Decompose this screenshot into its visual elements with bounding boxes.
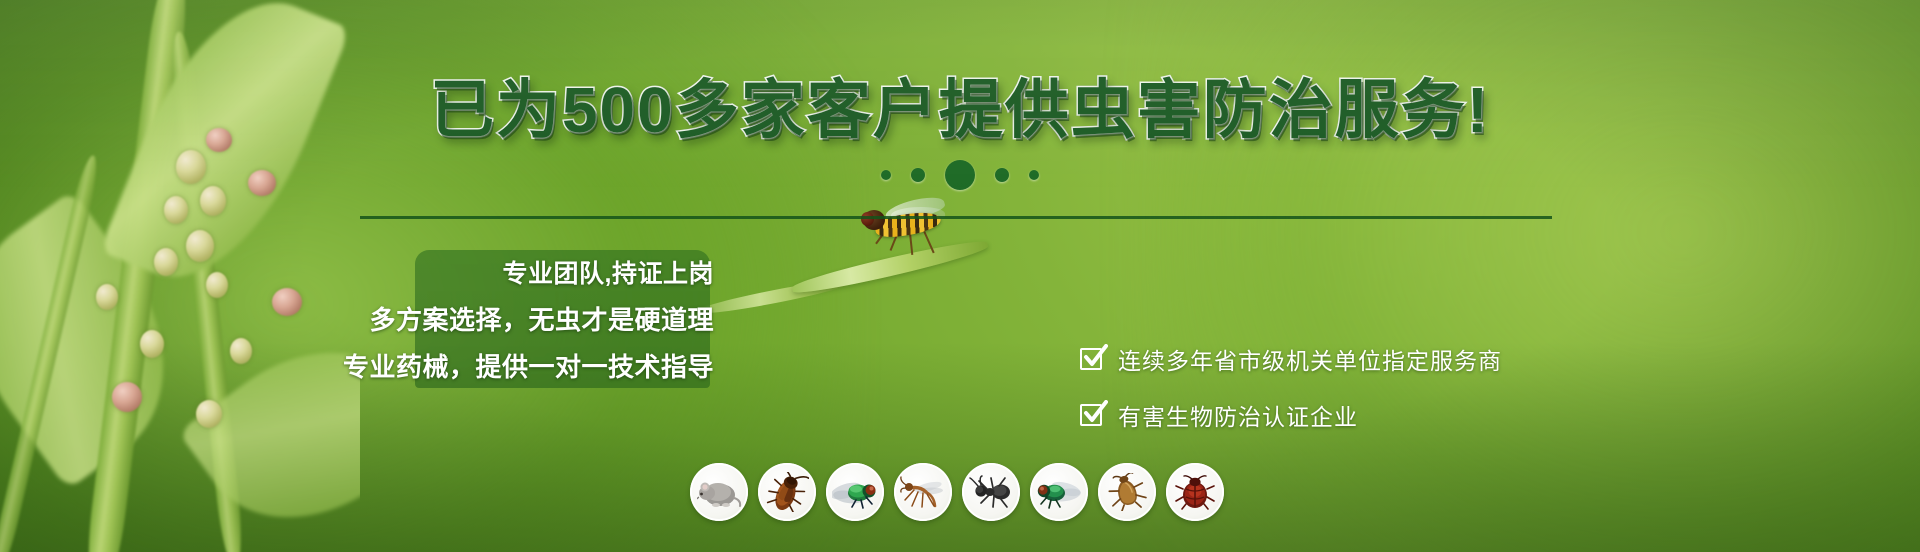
- checklist-item: 连续多年省市级机关单位指定服务商: [1080, 342, 1700, 376]
- credentials-checklist: 连续多年省市级机关单位指定服务商 有害生物防治认证企业: [1080, 342, 1700, 432]
- pest-badge-mosquito[interactable]: [894, 463, 952, 521]
- plant-bud-icon: [112, 382, 142, 412]
- greenfly-icon: [832, 475, 878, 509]
- divider-dot-icon: [1029, 170, 1039, 180]
- pest-badge-cockroach[interactable]: [758, 463, 816, 521]
- plant-bud-icon: [96, 284, 118, 310]
- plant-bud-icon: [200, 186, 226, 216]
- pest-badge-greenfly[interactable]: [826, 463, 884, 521]
- mosquito-icon: [900, 474, 946, 510]
- checklist-item-label: 有害生物防治认证企业: [1118, 398, 1358, 432]
- plant-bud-icon: [196, 400, 222, 428]
- selling-point-line-2: 多方案选择，无虫才是硬道理: [369, 300, 714, 337]
- plant-bud-icon: [140, 330, 164, 358]
- hoverfly-icon: [845, 198, 965, 250]
- horizontal-rule: [360, 216, 1552, 219]
- checklist-item: 有害生物防治认证企业: [1080, 398, 1700, 432]
- divider-dot-icon: [945, 160, 975, 190]
- checkbox-checked-icon: [1080, 402, 1106, 428]
- pest-badge-bedbug[interactable]: [1166, 463, 1224, 521]
- plant-bud-icon: [164, 196, 188, 224]
- hoverfly-abdomen: [874, 209, 942, 240]
- selling-points-text: 专业团队,持证上岗 多方案选择，无虫才是硬道理 专业药械，提供一对一技术指导: [336, 248, 728, 390]
- plant-bud-icon: [154, 248, 178, 276]
- divider-dot-icon: [881, 170, 891, 180]
- pest-badge-flea[interactable]: [1098, 463, 1156, 521]
- plant-bud-icon: [230, 338, 252, 364]
- selling-point-line-1: 专业团队,持证上岗: [503, 254, 714, 290]
- plant-bud-icon: [206, 272, 228, 298]
- cockroach-icon: [765, 472, 809, 512]
- plant-bud-icon: [186, 230, 214, 262]
- divider-dot-icon: [995, 168, 1009, 182]
- selling-point-line-3: 专业药械，提供一对一技术指导: [343, 347, 714, 384]
- ant-icon: [969, 475, 1013, 509]
- banner-headline-text: 已为500多家客户提供虫害防治服务!: [430, 74, 1490, 146]
- pest-types-strip: [690, 463, 1224, 521]
- pest-badge-ant[interactable]: [962, 463, 1020, 521]
- hoverfly-leg: [923, 231, 935, 254]
- checklist-item-label: 连续多年省市级机关单位指定服务商: [1118, 342, 1502, 376]
- pest-badge-bluefly[interactable]: [1030, 463, 1088, 521]
- bedbug-icon: [1174, 473, 1216, 511]
- pest-badge-mouse[interactable]: [690, 463, 748, 521]
- checkbox-checked-icon: [1080, 346, 1106, 372]
- bluefly-icon: [1036, 475, 1082, 509]
- dot-divider: [0, 160, 1920, 190]
- plant-bud-icon: [272, 288, 302, 316]
- banner-headline: 已为500多家客户提供虫害防治服务!: [0, 78, 1920, 142]
- hoverfly-eye: [861, 212, 874, 226]
- pest-control-hero-banner: 已为500多家客户提供虫害防治服务! 专业团队,持证上岗 多方案选择，无虫才是硬…: [0, 0, 1920, 552]
- divider-dot-icon: [911, 168, 925, 182]
- flea-icon: [1107, 473, 1147, 511]
- mouse-icon: [696, 475, 742, 509]
